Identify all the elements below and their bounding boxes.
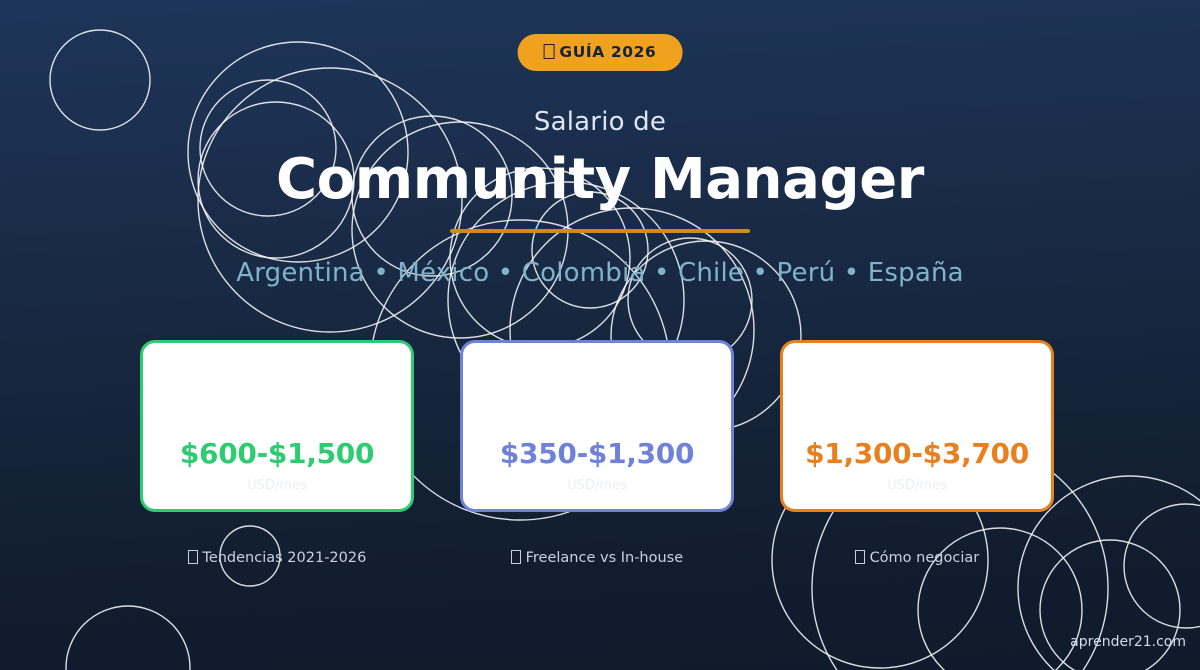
deco-circle [1040,540,1180,670]
card-content: $350-$1,300 USD/mes [463,439,731,493]
page-title: Community Manager [0,151,1200,210]
badge-label: GUÍA 2026 [559,43,656,61]
badge-missing-glyph-icon [544,44,555,59]
title-underline [450,229,750,233]
salary-unit-label: USD/mes [143,479,411,493]
guide-badge: GUÍA 2026 [518,34,683,71]
slide-canvas: GUÍA 2026 Salario de Community Manager A… [0,0,1200,670]
card-content: $600-$1,500 USD/mes [143,439,411,493]
salary-card-mid: $350-$1,300 USD/mes [460,340,734,512]
salary-range-value: $600-$1,500 [143,439,411,470]
salary-range-value: $1,300-$3,700 [783,439,1051,470]
caption-trends: Tendencias 2021-2026 [140,550,414,567]
deco-circle [1124,504,1200,628]
caption-freelance: Freelance vs In-house [460,550,734,567]
hero-block: Salario de Community Manager Argentina •… [0,108,1200,288]
card-captions: Tendencias 2021-2026 Freelance vs In-hou… [140,550,1060,574]
card-content: $1,300-$3,700 USD/mes [783,439,1051,493]
salary-range-value: $350-$1,300 [463,439,731,470]
salary-card-low: $600-$1,500 USD/mes [140,340,414,512]
salary-cards: $600-$1,500 USD/mes $350-$1,300 USD/mes … [140,340,1060,518]
country-list: Argentina • México • Colombia • Chile • … [0,258,1200,288]
caption-missing-glyph-icon [855,550,865,563]
deco-circle [66,606,190,670]
caption-label: Tendencias 2021-2026 [202,550,366,566]
hero-eyebrow: Salario de [0,108,1200,137]
caption-label: Freelance vs In-house [526,550,684,566]
caption-missing-glyph-icon [511,550,521,563]
salary-unit-label: USD/mes [463,479,731,493]
site-watermark: aprender21.com [1070,635,1186,650]
salary-card-high: $1,300-$3,700 USD/mes [780,340,1054,512]
caption-label: Cómo negociar [870,550,980,566]
caption-missing-glyph-icon [188,550,198,563]
caption-negotiate: Cómo negociar [780,550,1054,567]
salary-unit-label: USD/mes [783,479,1051,493]
